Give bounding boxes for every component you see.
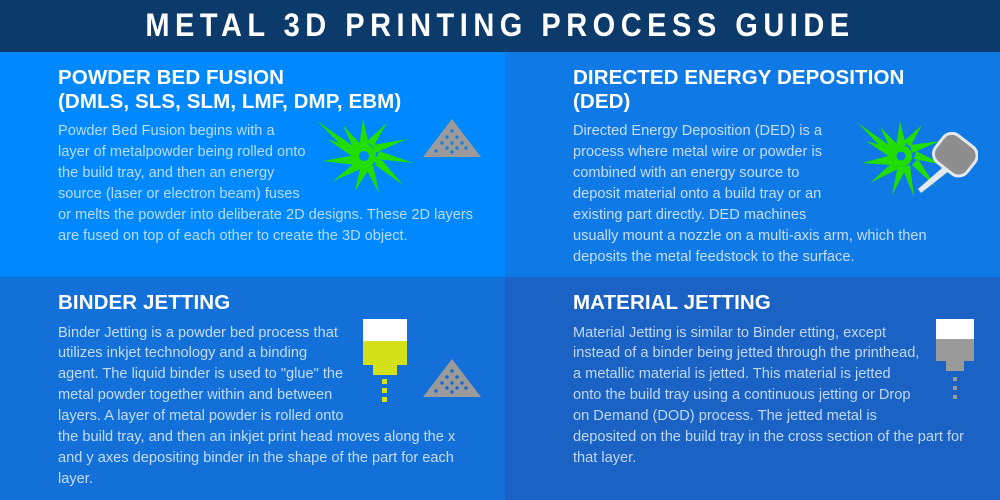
panel-title-line2: (DMLS, SLS, SLM, LMF, DMP, EBM) [58, 90, 483, 114]
binder-printhead-icon [355, 319, 417, 405]
panel-title-line1: MATERIAL JETTING [573, 291, 978, 315]
powder-pile-icon [421, 357, 483, 399]
panel-icons-material-jetting [932, 319, 978, 412]
panel-title-line1: POWDER BED FUSION [58, 66, 483, 90]
panel-title-powder-bed-fusion: POWDER BED FUSION (DMLS, SLS, SLM, LMF, … [58, 66, 483, 114]
laser-burst-icon [317, 117, 417, 193]
panel-row-top: POWDER BED FUSION (DMLS, SLS, SLM, LMF, … [0, 52, 1000, 277]
panel-title-line2: (DED) [573, 90, 978, 114]
deposition-nozzle-group-icon [858, 117, 978, 201]
header-bar: METAL 3D PRINTING PROCESS GUIDE [0, 0, 1000, 52]
panel-icons-binder-jetting [355, 319, 483, 405]
infographic-root: METAL 3D PRINTING PROCESS GUIDE POWDER B… [0, 0, 1000, 500]
panel-powder-bed-fusion[interactable]: POWDER BED FUSION (DMLS, SLS, SLM, LMF, … [0, 52, 505, 277]
powder-pile-icon [421, 117, 483, 159]
panel-title-line1: DIRECTED ENERGY DEPOSITION [573, 66, 978, 90]
panel-body-material-jetting: Material Jetting is similar to Binder et… [573, 323, 978, 469]
panel-icons-directed-energy-deposition [858, 117, 978, 206]
panel-title-line1: BINDER JETTING [58, 291, 483, 315]
panel-title-directed-energy-deposition: DIRECTED ENERGY DEPOSITION (DED) [573, 66, 978, 114]
panel-row-bottom: BINDER JETTING [0, 277, 1000, 500]
material-printhead-icon [932, 319, 978, 407]
panel-binder-jetting[interactable]: BINDER JETTING [0, 277, 505, 500]
page-title: METAL 3D PRINTING PROCESS GUIDE [145, 8, 854, 45]
panel-title-material-jetting: MATERIAL JETTING [573, 291, 978, 315]
laser-burst-icon [858, 121, 944, 197]
panel-directed-energy-deposition[interactable]: DIRECTED ENERGY DEPOSITION (DED) [505, 52, 1000, 277]
panel-title-binder-jetting: BINDER JETTING [58, 291, 483, 315]
panel-icons-powder-bed-fusion [317, 117, 483, 193]
panel-material-jetting[interactable]: MATERIAL JETTING [505, 277, 1000, 500]
panel-grid: POWDER BED FUSION (DMLS, SLS, SLM, LMF, … [0, 52, 1000, 500]
